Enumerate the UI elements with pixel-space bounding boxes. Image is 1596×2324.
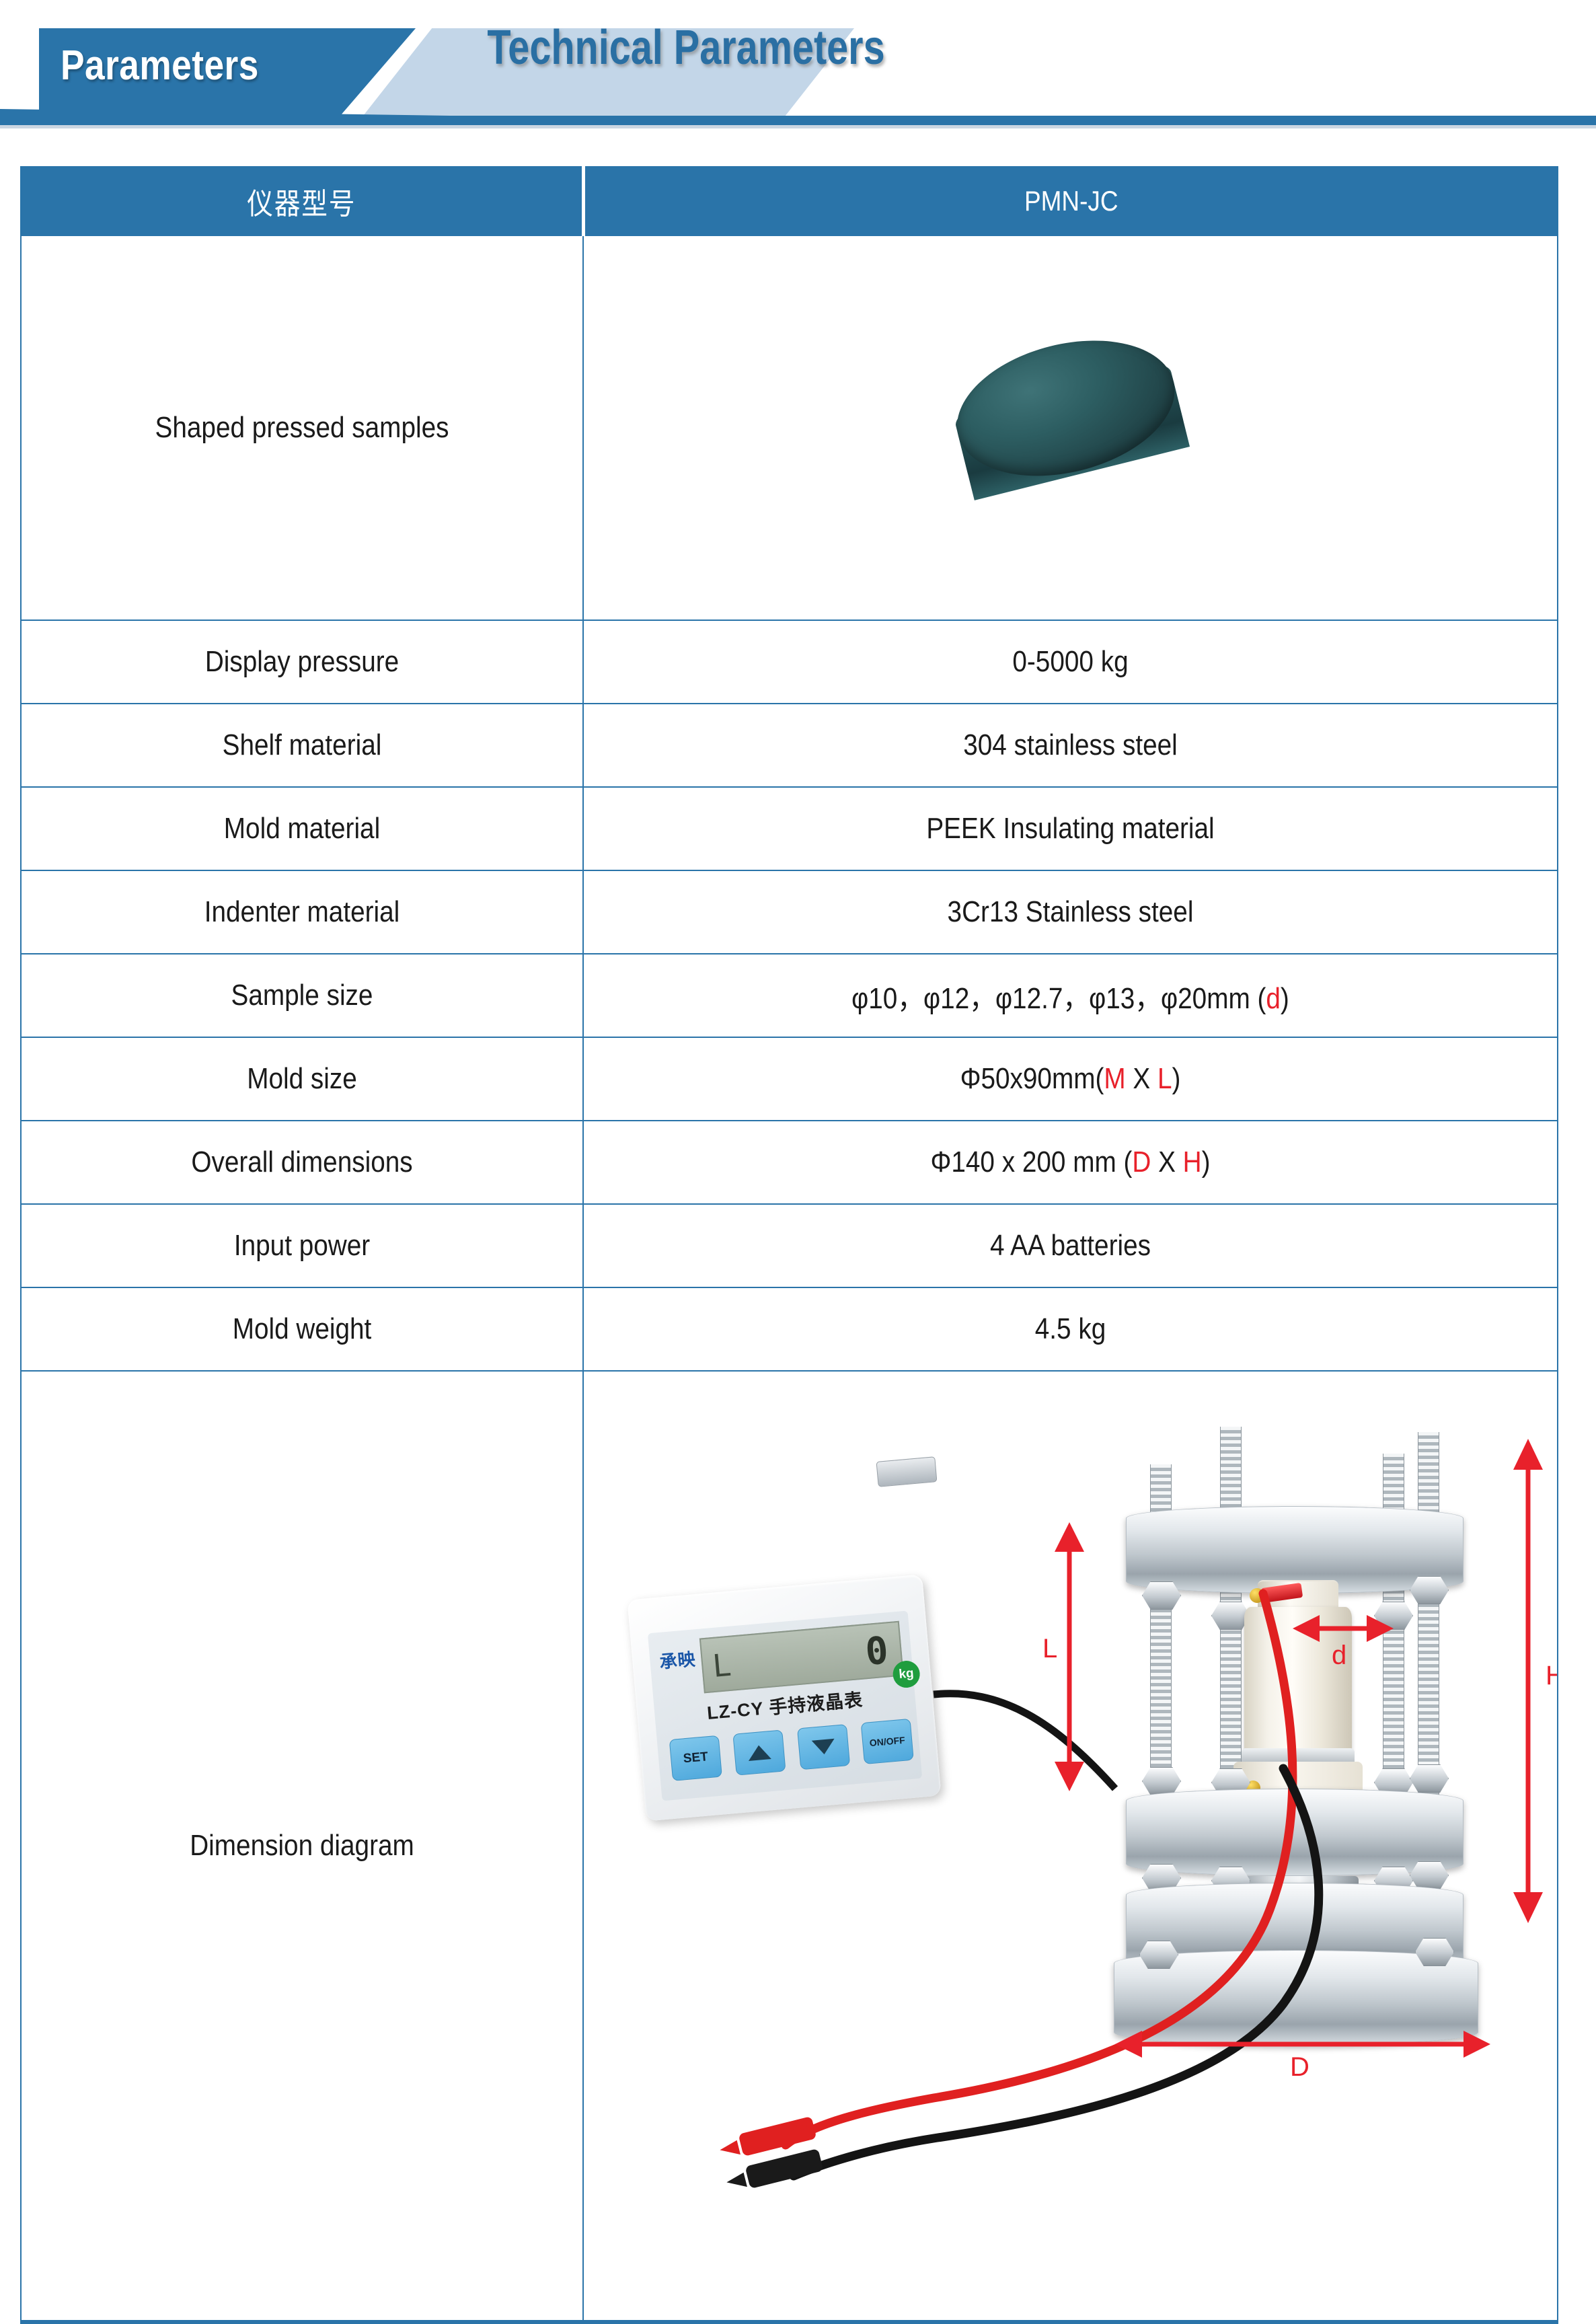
header-cell-model-label: 仪器型号 — [21, 167, 583, 235]
row-label-cell: Dimension diagram — [21, 1371, 583, 2322]
table-header-row: 仪器型号 PMN-JC — [21, 167, 1558, 235]
row-value-text: PEEK Insulating material — [642, 812, 1498, 846]
dimension-arrow-H — [1513, 1439, 1543, 1923]
row-value-cell: 4.5 kg — [583, 1287, 1558, 1371]
dimension-diagram: 承映 L 0 kg LZ-CY 手持液晶表 SET — [584, 1372, 1557, 2320]
row-value-cell: 0-5000 kg — [583, 620, 1558, 704]
row-value-text: 304 stainless steel — [642, 728, 1498, 762]
row-label-cell: Indenter material — [21, 870, 583, 954]
hex-nut — [1410, 1764, 1449, 1793]
row-value-text: 0-5000 kg — [642, 645, 1498, 679]
handheld-lcd-meter: 承映 L 0 kg LZ-CY 手持液晶表 SET — [627, 1574, 941, 1821]
row-value-cell: Φ50x90mm(M X L) — [583, 1037, 1558, 1121]
sensor-cable — [934, 1694, 1115, 1789]
lcd-left-glyph: L — [711, 1647, 732, 1684]
table-row: Overall dimensions Φ140 x 200 mm (D X H) — [21, 1121, 1558, 1204]
row-label-cell: Shelf material — [21, 704, 583, 787]
dimension-label-d: d — [1332, 1641, 1346, 1671]
brass-screw — [1250, 1588, 1264, 1603]
dimension-label-H: H — [1546, 1661, 1557, 1691]
table-row: Dimension diagram 承映 L 0 kg — [21, 1371, 1558, 2322]
black-alligator-clip — [725, 2148, 823, 2191]
hex-nut — [1142, 1767, 1181, 1795]
row-label-cell: Mold weight — [21, 1287, 583, 1371]
up-arrow-button[interactable] — [733, 1729, 786, 1775]
row-label-cell: Display pressure — [21, 620, 583, 704]
header-rule-shadow — [0, 125, 1596, 128]
row-value-cell: 304 stainless steel — [583, 704, 1558, 787]
table-row: Indenter material 3Cr13 Stainless steel — [21, 870, 1558, 954]
dimension-label-L: L — [1042, 1634, 1057, 1664]
lcd-reading-value: 0 — [864, 1628, 890, 1674]
model-label-text: 仪器型号 — [55, 180, 548, 223]
peek-mold-body — [1244, 1607, 1352, 1762]
on-off-button[interactable]: ON/OFF — [861, 1719, 914, 1764]
down-arrow-button[interactable] — [797, 1724, 850, 1770]
row-label-text: Sample size — [55, 979, 549, 1012]
row-value-text: 4 AA batteries — [642, 1229, 1498, 1263]
row-label-text: Mold weight — [55, 1312, 549, 1346]
pellet-image-wrap — [584, 236, 1557, 620]
table-row: Input power 4 AA batteries — [21, 1204, 1558, 1287]
row-label-cell: Mold material — [21, 787, 583, 870]
row-label-text: Mold material — [55, 812, 549, 846]
row-label-text: Mold size — [55, 1062, 549, 1096]
table-row: Mold material PEEK Insulating material — [21, 787, 1558, 870]
table-row: Display pressure 0-5000 kg — [21, 620, 1558, 704]
page-header: Parameters Technical Parameters — [0, 0, 1596, 138]
dimension-arrow-L — [1055, 1522, 1084, 1791]
row-label-cell: Shaped pressed samples — [21, 235, 583, 620]
table-row: Sample size φ10，φ12，φ12.7，φ13，φ20mm (d) — [21, 954, 1558, 1037]
table-row: Mold size Φ50x90mm(M X L) — [21, 1037, 1558, 1121]
row-label-text: Shaped pressed samples — [55, 411, 549, 445]
row-label-text: Overall dimensions — [55, 1146, 549, 1179]
page-title: Technical Parameters — [137, 20, 1235, 75]
row-label-text: Indenter material — [55, 895, 549, 929]
row-label-text: Input power — [55, 1229, 549, 1263]
table-row: Shaped pressed samples — [21, 235, 1558, 620]
middle-press-plate — [1126, 1789, 1464, 1876]
pressed-pellet-sample-icon — [942, 320, 1199, 536]
set-button[interactable]: SET — [669, 1735, 722, 1781]
row-value-cell: Φ140 x 200 mm (D X H) — [583, 1121, 1558, 1204]
row-label-text: Dimension diagram — [55, 1829, 549, 1863]
row-value-cell: 3Cr13 Stainless steel — [583, 870, 1558, 954]
row-label-cell: Input power — [21, 1204, 583, 1287]
row-value-rich: φ10，φ12，φ12.7，φ13，φ20mm (d) — [642, 974, 1498, 1017]
meter-cable-connector — [876, 1456, 938, 1487]
row-label-cell: Mold size — [21, 1037, 583, 1121]
model-value-text: PMN-JC — [643, 185, 1498, 217]
table-row: Mold weight 4.5 kg — [21, 1287, 1558, 1371]
row-value-rich: Φ140 x 200 mm (D X H) — [642, 1146, 1498, 1179]
row-label-cell: Sample size — [21, 954, 583, 1037]
row-value-rich: Φ50x90mm(M X L) — [642, 1062, 1498, 1096]
row-value-cell: 4 AA batteries — [583, 1204, 1558, 1287]
row-label-text: Display pressure — [55, 645, 549, 679]
triangle-down-icon — [811, 1739, 835, 1756]
triangle-up-icon — [747, 1744, 771, 1761]
lcd-display: L 0 — [699, 1621, 904, 1694]
spec-table: 仪器型号 PMN-JC Shaped pressed samples — [20, 166, 1558, 2324]
row-value-cell: PEEK Insulating material — [583, 787, 1558, 870]
row-label-cell: Overall dimensions — [21, 1121, 583, 1204]
meter-brand-logo: 承映 — [658, 1645, 697, 1674]
table-row: Shelf material 304 stainless steel — [21, 704, 1558, 787]
row-value-cell: φ10，φ12，φ12.7，φ13，φ20mm (d) — [583, 954, 1558, 1037]
meter-button-row: SET ON/OFF — [669, 1719, 914, 1781]
hex-nut — [1374, 1602, 1413, 1630]
press-fixture-assembly: 压力传感器 — [1102, 1412, 1492, 2118]
header-cell-model-value: PMN-JC — [583, 167, 1558, 235]
dimension-label-D: D — [1290, 2052, 1309, 2083]
row-value-text: 4.5 kg — [642, 1312, 1498, 1346]
meter-face: 承映 L 0 kg LZ-CY 手持液晶表 SET — [648, 1611, 922, 1801]
red-alligator-clip — [718, 2116, 816, 2159]
row-value-cell-diagram: 承映 L 0 kg LZ-CY 手持液晶表 SET — [583, 1371, 1558, 2322]
row-value-cell-sample-image — [583, 235, 1558, 620]
row-label-text: Shelf material — [55, 728, 549, 762]
row-value-text: 3Cr13 Stainless steel — [642, 895, 1498, 929]
